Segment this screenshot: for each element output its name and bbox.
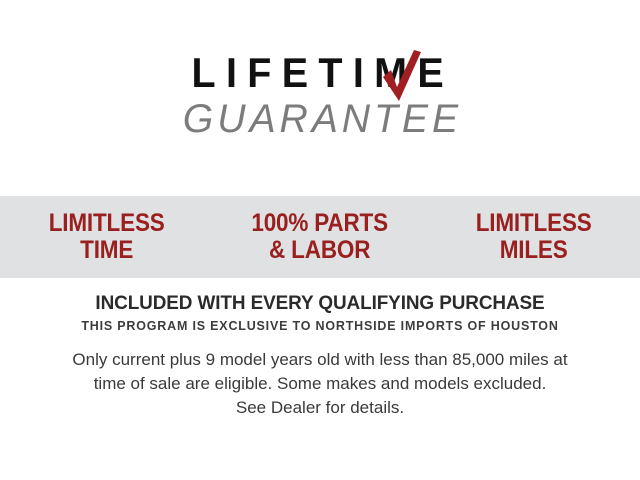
fineprint-line: time of sale are eligible. Some makes an… xyxy=(40,372,600,396)
fineprint-line: Only current plus 9 model years old with… xyxy=(40,348,600,372)
fineprint-line: See Dealer for details. xyxy=(40,396,600,420)
benefit-line-2: MILES xyxy=(437,237,629,265)
logo-secondary-word: GUARANTEE xyxy=(178,98,462,140)
benefit-line-1: LIMITLESS xyxy=(11,210,203,238)
benefit-column-parts-labor: 100% PARTS & LABOR xyxy=(224,210,416,265)
headline: INCLUDED WITH EVERY QUALIFYING PURCHASE xyxy=(10,292,631,314)
benefit-line-1: LIMITLESS xyxy=(437,210,629,238)
benefit-column-limitless-time: LIMITLESS TIME xyxy=(11,210,203,265)
benefit-line-2: & LABOR xyxy=(224,237,416,265)
logo-wordmark: LIFETIME GUARANTEE xyxy=(175,52,465,140)
benefit-column-limitless-miles: LIMITLESS MILES xyxy=(437,210,629,265)
subheadline: THIS PROGRAM IS EXCLUSIVE TO NORTHSIDE I… xyxy=(13,318,627,334)
logo-block: LIFETIME GUARANTEE xyxy=(0,52,640,140)
benefit-line-1: 100% PARTS xyxy=(224,210,416,238)
logo-primary-word: LIFETIME xyxy=(184,52,457,94)
benefits-band: LIMITLESS TIME 100% PARTS & LABOR LIMITL… xyxy=(0,196,640,278)
lower-text-block: INCLUDED WITH EVERY QUALIFYING PURCHASE … xyxy=(0,292,640,420)
benefit-line-2: TIME xyxy=(11,237,203,265)
fineprint: Only current plus 9 model years old with… xyxy=(40,348,600,420)
lifetime-guarantee-advertisement: LIFETIME GUARANTEE LIMITLESS TIME 100% P… xyxy=(0,0,640,480)
